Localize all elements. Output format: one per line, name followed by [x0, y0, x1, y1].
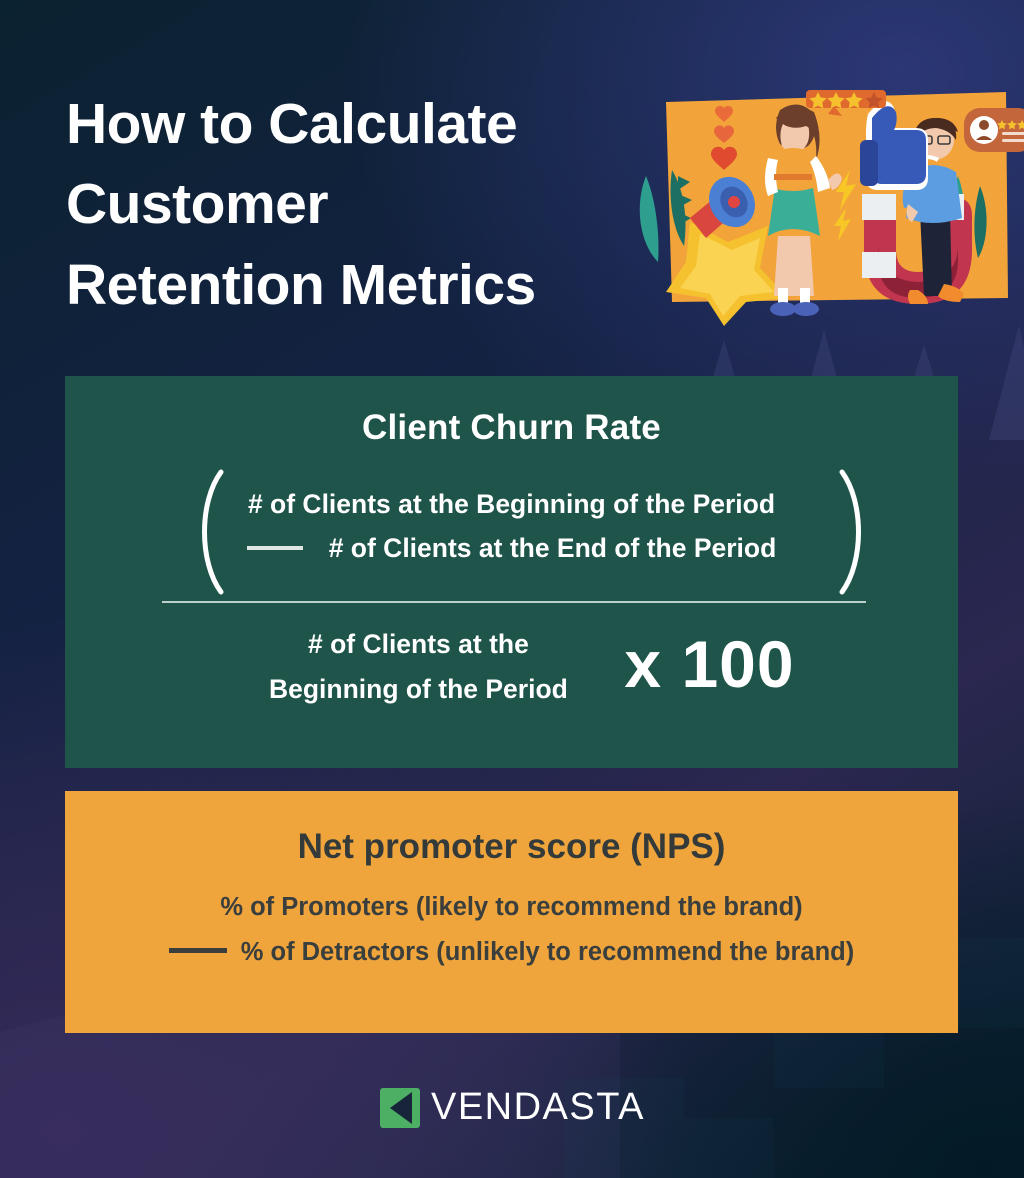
- numerator-line-2-row: # of Clients at the End of the Period: [247, 526, 777, 570]
- infographic-canvas: How to Calculate Customer Retention Metr…: [0, 0, 1024, 1178]
- nps-subtraction-dash-icon: [169, 948, 227, 953]
- churn-multiplier: x 100: [624, 626, 794, 708]
- net-promoter-score-card: Net promoter score (NPS) % of Promoters …: [65, 791, 958, 1033]
- numerator-line-1: # of Clients at the Beginning of the Per…: [93, 482, 930, 526]
- denominator-line-1: # of Clients at the: [228, 622, 608, 667]
- footer-branding: VENDASTA: [0, 1086, 1024, 1129]
- vendasta-wordmark: VENDASTA: [431, 1086, 645, 1129]
- fraction-divider-line: [162, 601, 866, 603]
- nps-line-2-row: % of Detractors (unlikely to recommend t…: [65, 930, 958, 975]
- nps-line-1: % of Promoters (likely to recommend the …: [65, 885, 958, 930]
- header-section: How to Calculate Customer Retention Metr…: [0, 0, 1024, 350]
- churn-denominator-group: # of Clients at the Beginning of the Per…: [65, 622, 958, 712]
- customer-retention-illustration: [628, 66, 1024, 326]
- churn-denominator-text: # of Clients at the Beginning of the Per…: [228, 622, 608, 712]
- nps-formula-text: % of Promoters (likely to recommend the …: [65, 885, 958, 975]
- client-churn-rate-card: Client Churn Rate # of Clients at the Be…: [65, 376, 958, 768]
- churn-numerator-text: # of Clients at the Beginning of the Per…: [93, 482, 930, 570]
- numerator-line-2: # of Clients at the End of the Period: [329, 533, 777, 563]
- churn-card-title: Client Churn Rate: [65, 408, 958, 448]
- subtraction-dash-icon: [247, 546, 303, 550]
- churn-numerator-group: # of Clients at the Beginning of the Per…: [93, 468, 930, 596]
- vendasta-logo-icon: [379, 1087, 421, 1129]
- nps-line-2: % of Detractors (unlikely to recommend t…: [241, 938, 855, 966]
- denominator-line-2: Beginning of the Period: [228, 667, 608, 712]
- review-card-badge: [964, 108, 1024, 152]
- page-title: How to Calculate Customer Retention Metr…: [66, 84, 666, 325]
- nps-card-title: Net promoter score (NPS): [65, 827, 958, 867]
